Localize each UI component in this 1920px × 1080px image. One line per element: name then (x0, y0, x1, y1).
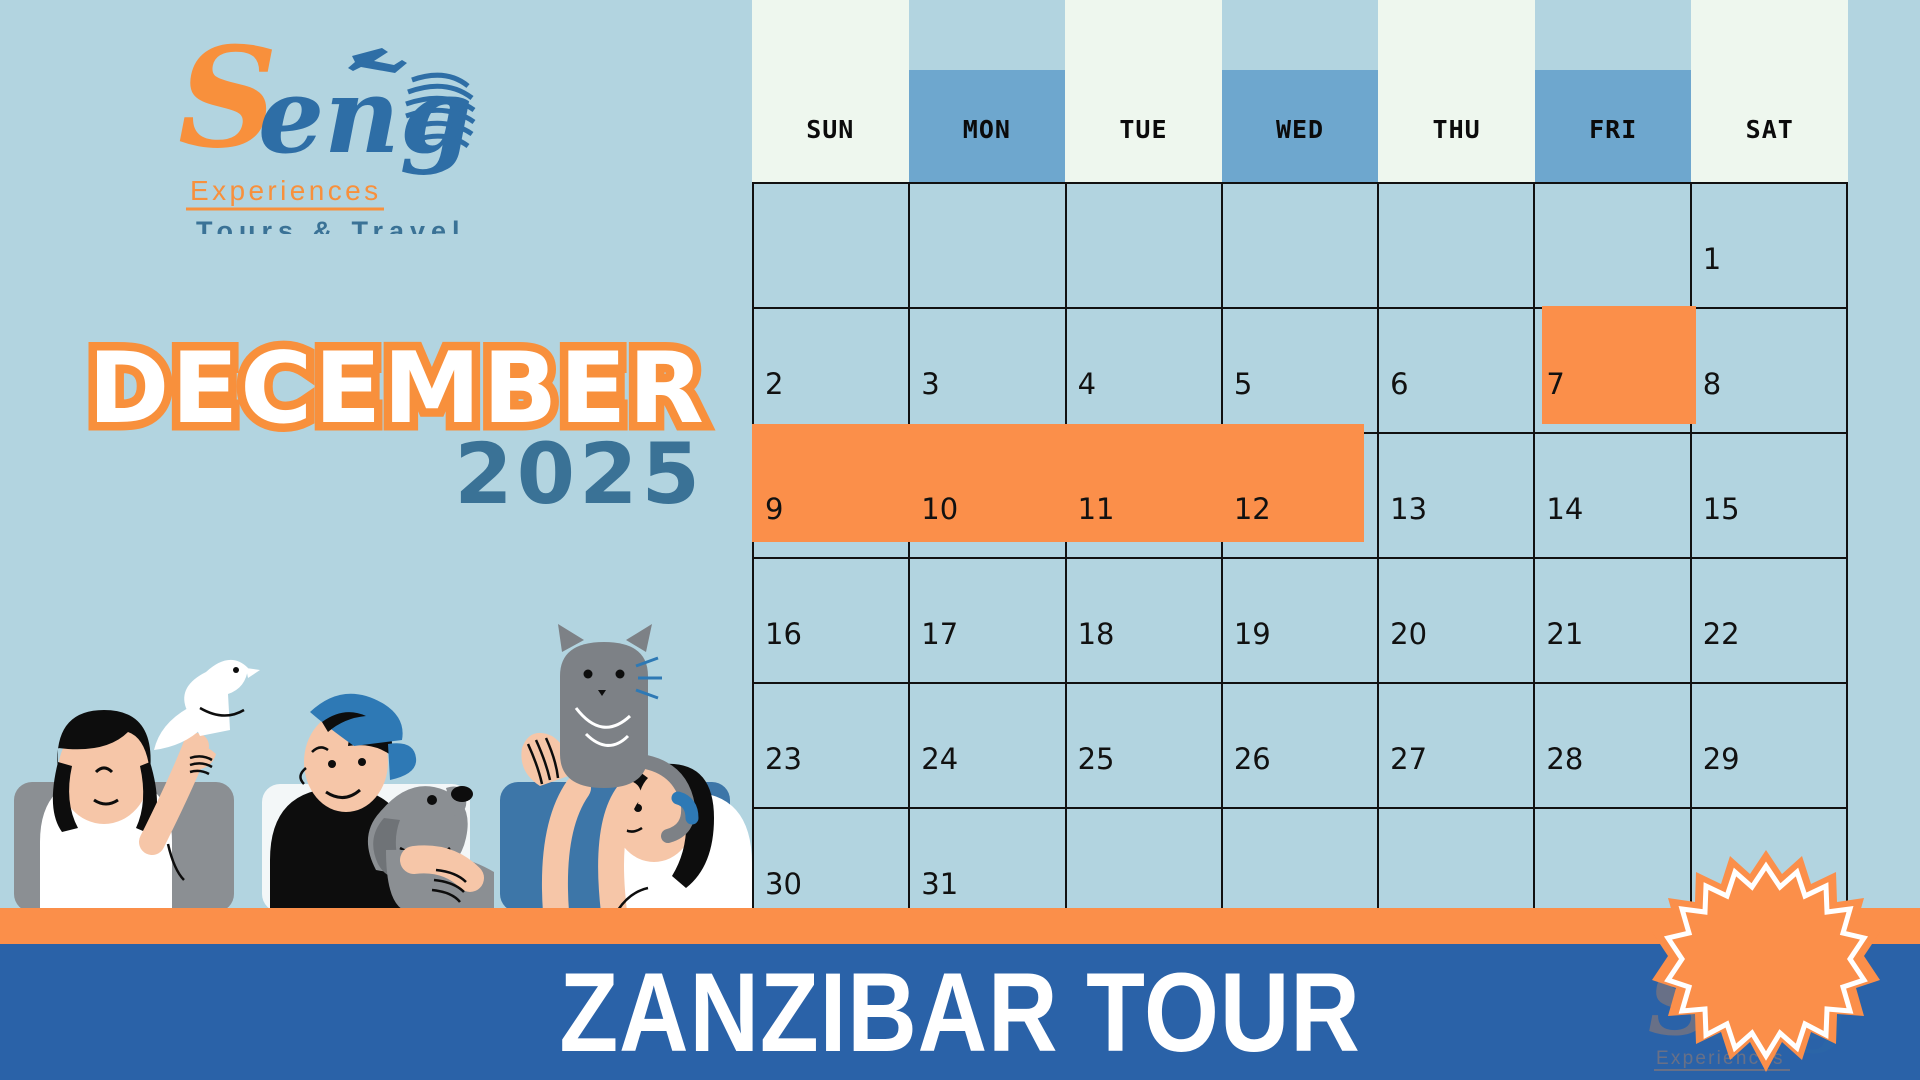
weekday-header-cell: WED (1222, 0, 1379, 182)
day-number: 14 (1536, 492, 1688, 556)
day-number: 26 (1224, 742, 1376, 806)
month-year-block: DECEMBER 2025 (70, 340, 730, 516)
day-number (1224, 276, 1376, 306)
day-number: 8 (1693, 367, 1845, 431)
day-cell[interactable]: 13 (1378, 433, 1534, 558)
day-cell[interactable]: 17 (909, 558, 1065, 683)
day-number: 13 (1380, 492, 1532, 556)
day-cell[interactable]: 5 (1222, 308, 1378, 433)
day-cell[interactable] (1378, 808, 1534, 933)
weekday-header-cell: FRI (1535, 0, 1692, 182)
header-band-pale (1535, 0, 1692, 70)
day-number: 28 (1536, 742, 1688, 806)
day-number: 17 (911, 617, 1063, 681)
header-band-pale (1222, 0, 1379, 70)
header-band-light (1691, 0, 1848, 182)
day-number: 23 (755, 742, 907, 806)
day-number (1380, 276, 1532, 306)
day-number (1224, 901, 1376, 931)
day-number (1068, 276, 1220, 306)
day-cell-highlighted[interactable]: 8 (1691, 308, 1847, 433)
calendar-grid: 1 2 3 4 5 6 7 8 9 10 11 (752, 182, 1848, 912)
day-number: 10 (911, 492, 1063, 556)
day-number: 27 (1380, 742, 1532, 806)
day-number: 7 (1536, 367, 1688, 431)
day-cell[interactable]: 19 (1222, 558, 1378, 683)
weekday-label-wed: WED (1222, 115, 1379, 144)
day-cell[interactable]: 27 (1378, 683, 1534, 808)
day-number: 5 (1224, 367, 1376, 431)
day-cell[interactable] (1222, 808, 1378, 933)
banner-title: ZANZIBAR TOUR (134, 944, 1785, 1080)
calendar-week-row: 16 17 18 19 20 21 22 (753, 558, 1847, 683)
day-number (1536, 901, 1688, 931)
day-number: 18 (1068, 617, 1220, 681)
day-number: 9 (755, 492, 907, 556)
left-panel: S eng Experiences Tours & Travel (0, 0, 752, 912)
calendar-poster: S eng Experiences Tours & Travel (0, 0, 1920, 1080)
weekday-header-cell: MON (909, 0, 1066, 182)
day-cell[interactable]: 4 (1066, 308, 1222, 433)
day-number: 12 (1224, 492, 1376, 556)
weekday-label-fri: FRI (1535, 115, 1692, 144)
day-cell[interactable]: 6 (1378, 308, 1534, 433)
day-number: 11 (1068, 492, 1220, 556)
weekday-header-cell: SUN (752, 0, 909, 182)
day-number: 30 (755, 867, 907, 931)
calendar-week-row: 1 (753, 183, 1847, 308)
day-cell[interactable] (1534, 183, 1690, 308)
tagline-tours-travel: Tours & Travel (196, 216, 466, 234)
day-number: 22 (1693, 617, 1845, 681)
day-number: 16 (755, 617, 907, 681)
day-cell[interactable] (753, 183, 909, 308)
people-pets-illustration (0, 612, 752, 912)
day-cell[interactable] (1378, 183, 1534, 308)
day-number: 20 (1380, 617, 1532, 681)
day-number (1536, 276, 1688, 306)
day-cell[interactable]: 1 (1691, 183, 1847, 308)
day-number (911, 276, 1063, 306)
day-cell[interactable]: 25 (1066, 683, 1222, 808)
bird-icon (154, 660, 260, 750)
day-cell[interactable]: 20 (1378, 558, 1534, 683)
day-number: 29 (1693, 742, 1845, 806)
day-cell[interactable]: 2 (753, 308, 909, 433)
tagline-experiences: Experiences (190, 175, 381, 206)
weekday-header-cell: TUE (1065, 0, 1222, 182)
day-cell[interactable]: 22 (1691, 558, 1847, 683)
calendar-week-row: 23 24 25 26 27 28 29 (753, 683, 1847, 808)
header-band-light (1065, 0, 1222, 182)
day-number: 24 (911, 742, 1063, 806)
day-cell[interactable] (1066, 183, 1222, 308)
day-number (755, 276, 907, 306)
day-cell[interactable]: 31 (909, 808, 1065, 933)
day-number: 6 (1380, 367, 1532, 431)
month-label: DECEMBER (70, 340, 730, 438)
day-cell[interactable]: 16 (753, 558, 909, 683)
weekday-label-thu: THU (1378, 115, 1535, 144)
day-number (1068, 901, 1220, 931)
day-number (1693, 901, 1845, 931)
day-number: 21 (1536, 617, 1688, 681)
person-with-cat (521, 624, 752, 912)
weekday-header-cell: SAT (1691, 0, 1848, 182)
day-number: 2 (755, 367, 907, 431)
day-cell[interactable]: 28 (1534, 683, 1690, 808)
day-number (1380, 901, 1532, 931)
weekday-header-row: SUN MON TUE WED THU (752, 0, 1848, 182)
day-cell[interactable]: 30 (753, 808, 909, 933)
day-cell[interactable]: 18 (1066, 558, 1222, 683)
day-cell[interactable]: 14 (1534, 433, 1690, 558)
day-cell[interactable] (1222, 183, 1378, 308)
weekday-label-sat: SAT (1691, 115, 1848, 144)
day-number: 31 (911, 867, 1063, 931)
day-cell[interactable]: 23 (753, 683, 909, 808)
day-cell[interactable]: 24 (909, 683, 1065, 808)
day-number: 25 (1068, 742, 1220, 806)
day-cell[interactable]: 21 (1534, 558, 1690, 683)
day-cell[interactable]: 15 (1691, 433, 1847, 558)
day-number: 1 (1693, 242, 1845, 306)
day-number: 15 (1693, 492, 1845, 556)
person-with-dog (270, 694, 494, 912)
header-band-pale (909, 0, 1066, 70)
day-number: 19 (1224, 617, 1376, 681)
day-number: 3 (911, 367, 1063, 431)
brand-logo: S eng Experiences Tours & Travel (176, 34, 516, 234)
weekday-label-tue: TUE (1065, 115, 1222, 144)
day-number: 4 (1068, 367, 1220, 431)
weekday-header-cell: THU (1378, 0, 1535, 182)
day-cell[interactable]: 26 (1222, 683, 1378, 808)
day-cell[interactable] (909, 183, 1065, 308)
header-band-light (752, 0, 909, 182)
header-band-light (1378, 0, 1535, 182)
day-cell[interactable]: 29 (1691, 683, 1847, 808)
day-cell[interactable]: 3 (909, 308, 1065, 433)
weekday-label-mon: MON (909, 115, 1066, 144)
weekday-label-sun: SUN (752, 115, 909, 144)
svg-text:eng: eng (258, 54, 473, 177)
day-cell[interactable] (1066, 808, 1222, 933)
